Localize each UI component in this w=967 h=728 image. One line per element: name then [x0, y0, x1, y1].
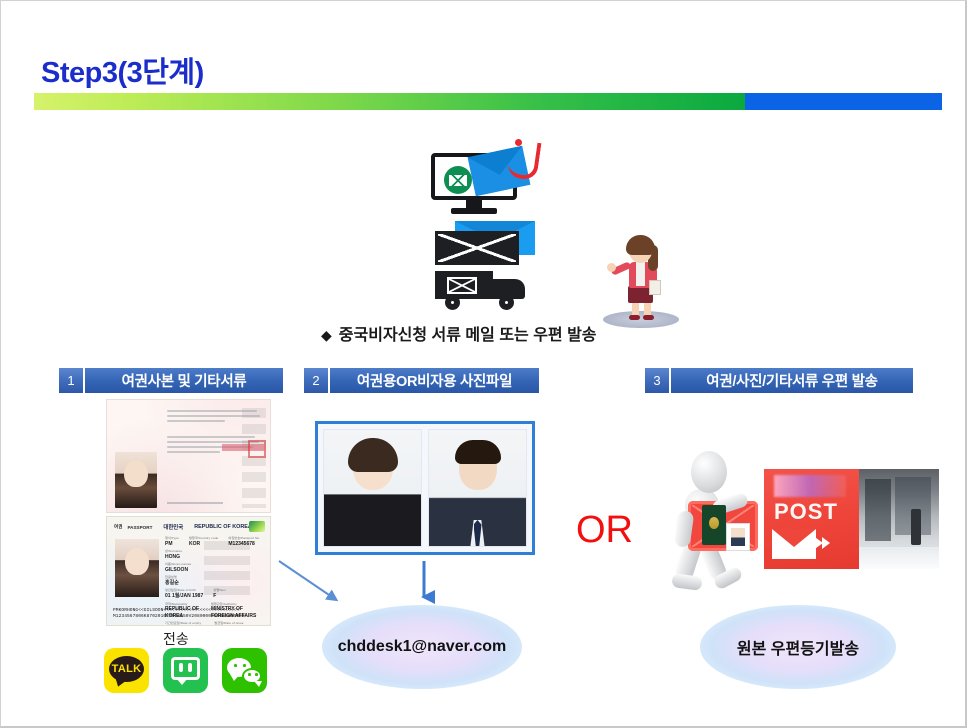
email-address-text: chddesk1@naver.com — [338, 638, 507, 656]
presenter-hair — [626, 235, 655, 255]
email-address-bubble[interactable]: chddesk1@naver.com — [322, 605, 522, 689]
passport-field-value: M12345678 — [228, 541, 254, 547]
building-glass-left — [865, 479, 891, 541]
messenger-icon-row: TALK — [104, 648, 267, 693]
wechat-tail-large — [230, 674, 240, 681]
passport-field-label: 기간만료일/Date of expiry — [165, 622, 204, 626]
section-header-3[interactable]: 3 여권/사진/기타서류 우편 발송 — [645, 368, 913, 393]
passport-red-seal — [248, 440, 266, 458]
passport-portrait-photo — [115, 539, 159, 597]
section-number-3: 3 — [645, 368, 669, 393]
section-number-2: 2 — [304, 368, 328, 393]
envelope-stack-icon — [435, 221, 535, 265]
slide-canvas: Step3(3단계) — [0, 0, 967, 728]
page-title: Step3(3단계) — [41, 49, 204, 91]
postal-text: 원본 우편등기발송 — [737, 635, 859, 659]
building-floor — [859, 547, 939, 569]
passport-mrz: PMKORHONG<<GILSOON<<<<<<<<<<<<<<<<<<<<<<… — [113, 608, 266, 622]
section-label-2: 여권용OR비자용 사진파일 — [330, 368, 539, 393]
section-caption-text: 중국비자신청 서류 메일 또는 우편 발송 — [339, 327, 597, 344]
passport-field-value: PM — [165, 541, 173, 547]
band-tail — [176, 678, 188, 685]
wechat-eye-1 — [234, 664, 237, 667]
post-light-streak — [774, 475, 846, 497]
kakaotalk-label: TALK — [104, 656, 149, 682]
package-passport-icon — [702, 505, 726, 545]
post-office-image: POST — [764, 469, 939, 569]
passport-mrz-line-2: M1234567806K8702010F3008150V208000000000… — [113, 614, 266, 621]
passport-field-value: F — [213, 593, 216, 599]
courier-head — [691, 451, 727, 493]
band-eye-right — [188, 663, 192, 672]
wechat-tail-small — [254, 681, 262, 687]
presenter-shoe-right — [643, 315, 654, 320]
divider-gradient-segment — [34, 93, 745, 110]
arrow-down-icon — [413, 561, 435, 609]
passport-country-en: REPUBLIC OF KOREA — [194, 524, 252, 530]
wechat-eye-3 — [248, 673, 251, 676]
presenter-document — [649, 280, 661, 295]
or-label: OR — [576, 509, 633, 552]
monitor-base — [451, 208, 497, 214]
mail-badge-icon — [444, 166, 472, 194]
id-photo-male — [428, 429, 527, 547]
passport-field-value: KOR — [189, 541, 200, 547]
section-caption: ◆중국비자신청 서류 메일 또는 우편 발송 — [321, 321, 597, 345]
wechat-eye-4 — [255, 673, 258, 676]
diamond-bullet-icon: ◆ — [321, 327, 332, 343]
passport-signature-line — [167, 502, 223, 504]
post-box-panel: POST — [764, 469, 859, 569]
section-label-3: 여권/사진/기타서류 우편 발송 — [671, 368, 913, 393]
truck-cargo-box — [435, 271, 493, 299]
section-label-1: 여권사본 및 기타서류 — [85, 368, 283, 393]
presenter-floor-disk — [603, 311, 679, 328]
passport-field-value: GILSOON — [165, 567, 188, 573]
passport-inner-page-image — [106, 399, 271, 513]
truck-wheel-rear — [445, 295, 460, 310]
passport-field-value: 홍길순 — [165, 580, 179, 586]
hook-tip-dot — [515, 139, 522, 146]
post-envelope-logo-icon — [772, 525, 836, 561]
passport-label-en: PASSPORT — [127, 525, 152, 530]
postal-bubble[interactable]: 원본 우편등기발송 — [700, 605, 896, 689]
monitor-neck — [466, 200, 482, 208]
band-eye-left — [179, 663, 183, 672]
package-photo-icon — [726, 523, 750, 551]
truck-envelope-mark — [447, 277, 477, 294]
section-header-1[interactable]: 1 여권사본 및 기타서류 — [59, 368, 283, 393]
phishing-hook-icon — [507, 139, 542, 181]
send-label: 전송 — [163, 629, 189, 649]
post-logo-chevron-2 — [822, 537, 830, 549]
passport-inner-photo — [115, 452, 157, 508]
passport-country-kr: 대한민국 — [163, 523, 183, 531]
passport-biometric-chip — [249, 521, 265, 532]
kakaotalk-icon[interactable]: TALK — [104, 648, 149, 693]
courier-foot-back — [671, 573, 703, 591]
building-person — [911, 509, 921, 545]
passport-header: 여권 PASSPORT 대한민국 REPUBLIC OF KOREA — [114, 523, 264, 531]
post-office-building — [859, 469, 939, 569]
section-header-2[interactable]: 2 여권용OR비자용 사진파일 — [304, 368, 539, 393]
passport-field-value: HONG — [165, 554, 180, 560]
band-icon[interactable] — [163, 648, 208, 693]
monitor-mail-icon — [431, 153, 517, 215]
id-photo-panel — [315, 421, 535, 555]
post-logo-envelope — [772, 529, 816, 559]
section-number-1: 1 — [59, 368, 83, 393]
passport-data-page-image: 여권 PASSPORT 대한민국 REPUBLIC OF KOREA 형식/Ty… — [106, 516, 271, 626]
band-square — [171, 657, 200, 680]
arrow-diagonal-icon — [277, 559, 347, 609]
truck-wheel-front — [499, 295, 514, 310]
title-divider-bar — [34, 93, 942, 110]
delivery-truck-icon — [435, 271, 535, 307]
passport-field-label: 발급일/Date of issue — [214, 622, 253, 626]
post-text: POST — [774, 499, 838, 525]
envelope-dark — [435, 231, 519, 265]
send-methods-illustration — [421, 139, 541, 304]
presenter-vest — [636, 262, 645, 286]
passport-field-value: 01 1월/JAN 1987 — [165, 593, 203, 599]
divider-blue-segment — [745, 93, 942, 110]
id-photo-female — [323, 429, 422, 547]
passport-label: 여권 — [114, 524, 122, 530]
wechat-eye-2 — [243, 664, 246, 667]
wechat-icon[interactable] — [222, 648, 267, 693]
presenter-character — [601, 237, 681, 329]
presenter-hand-left — [607, 263, 616, 272]
presenter-shoe-left — [629, 315, 640, 320]
